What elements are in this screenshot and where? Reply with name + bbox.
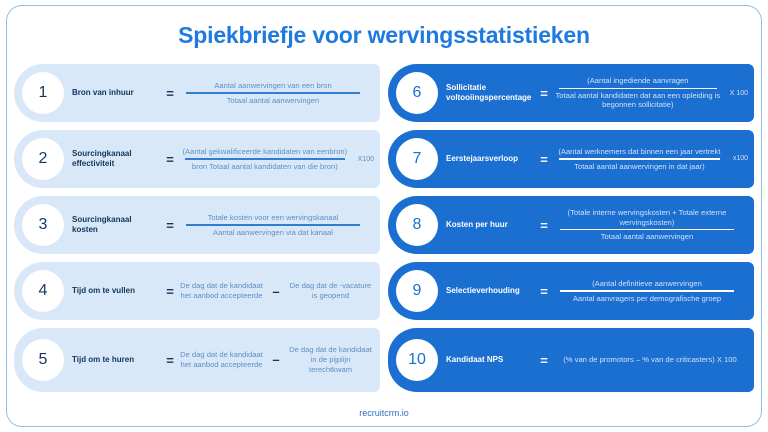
metrics-columns: 1 Bron van inhuur = Aantal aanwervingen … (14, 64, 754, 392)
metric-formula-3: Totale kosten voor een wervingskanaal Aa… (178, 212, 374, 238)
fraction-6: (Aantal ingediende aanvragen Totaal aant… (552, 75, 724, 111)
equals-sign-5: = (162, 354, 178, 367)
metric-label-3: Sourcingkanaal kosten (72, 215, 162, 235)
fraction-7: (Aantal werknemers dat binnen een jaar v… (552, 146, 727, 172)
fraction-bar-2 (185, 158, 345, 159)
metric-formula-10: (% van de promotors – % van de criticast… (552, 355, 748, 365)
metric-number-9: 9 (396, 270, 438, 312)
fraction-bar-7 (559, 158, 720, 159)
footer-brand: recruitcrm.io (0, 408, 768, 418)
fraction-bar-1 (186, 92, 361, 93)
equals-sign-6: = (536, 87, 552, 100)
metric-number-6: 6 (396, 72, 438, 114)
denominator-6: Totaal aantal kandidaten dat aan een opl… (552, 90, 724, 111)
left-column: 1 Bron van inhuur = Aantal aanwervingen … (14, 64, 380, 392)
minus-sign-4: – (269, 285, 283, 298)
metric-card-8[interactable]: 8 Kosten per huur = (Totale interne werv… (388, 196, 754, 254)
metric-formula-8: (Totale interne wervingskosten + Totale … (552, 207, 748, 243)
metric-formula-9: (Aantal definitieve aanwervingen Aantal … (552, 278, 748, 304)
metric-number-8: 8 (396, 204, 438, 246)
multiplier-6: X 100 (728, 90, 748, 97)
numerator-1: Aantal aanwervingen van een bron (212, 80, 333, 91)
multiplier-2: X100 (356, 156, 374, 163)
equals-sign-7: = (536, 153, 552, 166)
denominator-1: Totaal aantal aanwervingen (225, 95, 321, 106)
numerator-2: (Aantal gekwalificeerde kandidaten van e… (181, 146, 350, 157)
metric-number-4: 4 (22, 270, 64, 312)
metric-label-8: Kosten per huur (446, 220, 536, 230)
metric-card-7[interactable]: 7 Eerstejaarsverloop = (Aantal werknemer… (388, 130, 754, 188)
numerator-9: (Aantal definitieve aanwervingen (590, 278, 704, 289)
metric-formula-1: Aantal aanwervingen van een bron Totaal … (178, 80, 374, 106)
equals-sign-10: = (536, 354, 552, 367)
right-column: 6 Sollicitatie voltooiingspercentage = (… (388, 64, 754, 392)
infographic-page: Spiekbriefje voor wervingsstatistieken 1… (0, 0, 768, 432)
metric-number-2: 2 (22, 138, 64, 180)
denominator-8: Totaal aantal aanwervingen (599, 231, 695, 242)
equals-sign-1: = (162, 87, 178, 100)
equals-sign-2: = (162, 153, 178, 166)
metric-card-6[interactable]: 6 Sollicitatie voltooiingspercentage = (… (388, 64, 754, 122)
metric-card-4[interactable]: 4 Tijd om te vullen = De dag dat de kand… (14, 262, 380, 320)
metric-label-9: Selectieverhouding (446, 286, 536, 296)
metric-label-6: Sollicitatie voltooiingspercentage (446, 83, 536, 103)
metric-number-10: 10 (396, 339, 438, 381)
fraction-8: (Totale interne wervingskosten + Totale … (552, 207, 742, 243)
metric-formula-2: (Aantal gekwalificeerde kandidaten van e… (178, 146, 374, 172)
metric-card-3[interactable]: 3 Sourcingkanaal kosten = Totale kosten … (14, 196, 380, 254)
fraction-2: (Aantal gekwalificeerde kandidaten van e… (178, 146, 352, 172)
metric-label-10: Kandidaat NPS (446, 355, 536, 365)
term-left-4: De dag dat de kandidaat het aanbod accep… (178, 281, 265, 301)
metric-card-2[interactable]: 2 Sourcingkanaal effectiviteit = (Aantal… (14, 130, 380, 188)
fraction-1: Aantal aanwervingen van een bron Totaal … (178, 80, 368, 106)
metric-formula-4: De dag dat de kandidaat het aanbod accep… (178, 281, 374, 301)
metric-card-9[interactable]: 9 Selectieverhouding = (Aantal definitie… (388, 262, 754, 320)
metric-number-7: 7 (396, 138, 438, 180)
denominator-9: Aantal aanvragers per demografische groe… (571, 293, 723, 304)
metric-card-10[interactable]: 10 Kandidaat NPS = (% van de promotors –… (388, 328, 754, 392)
metric-formula-6: (Aantal ingediende aanvragen Totaal aant… (552, 75, 748, 111)
fraction-9: (Aantal definitieve aanwervingen Aantal … (552, 278, 742, 304)
fraction-3: Totale kosten voor een wervingskanaal Aa… (178, 212, 368, 238)
equals-sign-4: = (162, 285, 178, 298)
equals-sign-9: = (536, 285, 552, 298)
minus-sign-5: – (269, 353, 283, 366)
denominator-3: Aantal aanwervingen via dat kanaal (211, 227, 335, 238)
metric-label-4: Tijd om te vullen (72, 286, 162, 296)
equals-sign-8: = (536, 219, 552, 232)
numerator-8: (Totale interne wervingskosten + Totale … (552, 207, 742, 228)
page-title: Spiekbriefje voor wervingsstatistieken (0, 22, 768, 49)
metric-label-5: Tijd om te huren (72, 355, 162, 365)
fraction-bar-6 (559, 88, 717, 89)
fraction-bar-8 (560, 229, 735, 230)
fraction-bar-9 (560, 290, 735, 291)
term-right-5: De dag dat de kandidaat in de pijplijn t… (287, 345, 374, 375)
denominator-2: bron Totaal aantal kandidaten van die br… (190, 161, 340, 172)
metric-number-1: 1 (22, 72, 64, 114)
multiplier-7: x100 (731, 155, 748, 162)
equals-sign-3: = (162, 219, 178, 232)
metric-formula-5: De dag dat de kandidaat het aanbod accep… (178, 345, 374, 375)
numerator-7: (Aantal werknemers dat binnen een jaar v… (556, 146, 722, 157)
expression-10: (% van de promotors – % van de criticast… (552, 355, 748, 365)
metric-card-1[interactable]: 1 Bron van inhuur = Aantal aanwervingen … (14, 64, 380, 122)
term-left-5: De dag dat de kandidaat het aanbod accep… (178, 350, 265, 370)
denominator-7: Totaal aantal aanwervingen in dat jaar) (572, 161, 706, 172)
metric-card-5[interactable]: 5 Tijd om te huren = De dag dat de kandi… (14, 328, 380, 392)
fraction-bar-3 (186, 224, 361, 225)
metric-label-2: Sourcingkanaal effectiviteit (72, 149, 162, 169)
term-right-4: De dag dat de -vacature is geopend (287, 281, 374, 301)
metric-label-1: Bron van inhuur (72, 88, 162, 98)
metric-label-7: Eerstejaarsverloop (446, 154, 536, 164)
metric-number-5: 5 (22, 339, 64, 381)
metric-formula-7: (Aantal werknemers dat binnen een jaar v… (552, 146, 748, 172)
numerator-3: Totale kosten voor een wervingskanaal (206, 212, 341, 223)
metric-number-3: 3 (22, 204, 64, 246)
numerator-6: (Aantal ingediende aanvragen (585, 75, 690, 86)
